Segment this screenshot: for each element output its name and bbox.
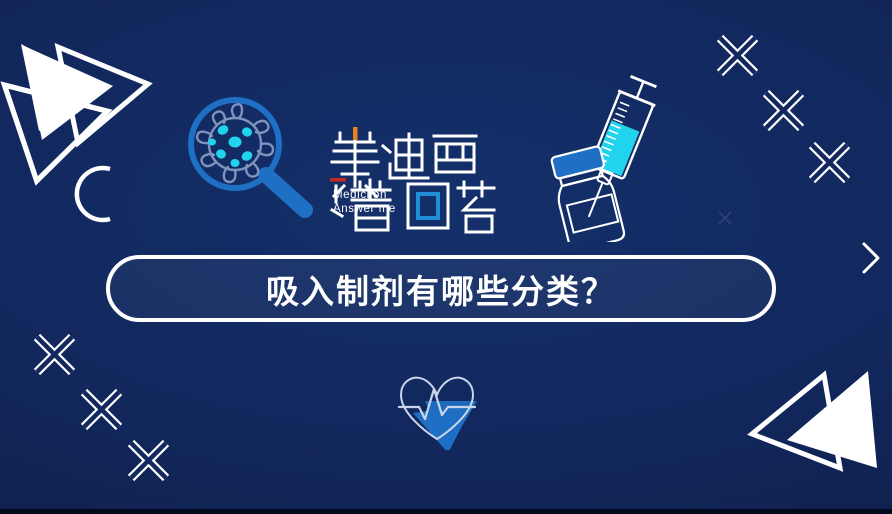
chevron-right-icon [864, 244, 878, 272]
triangle-filled-top-left [21, 44, 100, 131]
triangle-outline-top-left-b [58, 47, 148, 143]
syringe-vial-icon [545, 72, 670, 242]
triangle-filled-top-left-body [22, 45, 113, 140]
x-mark-top-right-3 [812, 145, 847, 180]
triangle-filled-bottom-right [787, 371, 877, 468]
x-mark-top-right-2 [766, 93, 801, 128]
logo-latin-text: Medicilon Answer me [333, 188, 396, 216]
magnifier-virus-icon [183, 88, 318, 218]
logo-accent-red [330, 178, 346, 182]
triangle-outline-bottom-right [752, 375, 840, 468]
heartbeat-icon [385, 365, 490, 450]
faint-x-icon [719, 212, 731, 224]
logo-char-da [458, 182, 494, 232]
logo-char-di [383, 134, 428, 178]
x-mark-bottom-left-2 [84, 392, 119, 427]
video-slide-canvas: Medicilon Answer me 吸入制剂有哪些分类？ [0, 0, 892, 514]
bottom-bar [0, 509, 892, 514]
x-mark-bottom-left-1 [37, 337, 72, 372]
logo-char-xi [434, 136, 476, 172]
medicilon-logo [330, 124, 510, 234]
triangle-outline-top-left [4, 75, 114, 184]
x-mark-top-right-1 [720, 38, 755, 73]
magnifier-handle-icon [266, 175, 305, 210]
logo-char-hui [408, 184, 448, 228]
arc-left [77, 168, 110, 220]
x-mark-bottom-left-3 [131, 443, 166, 478]
logo-accent-orange [353, 127, 358, 140]
question-title-card: 吸入制剂有哪些分类？ [106, 255, 776, 322]
question-title-text: 吸入制剂有哪些分类？ [266, 265, 616, 313]
logo-accent-square [418, 194, 438, 218]
